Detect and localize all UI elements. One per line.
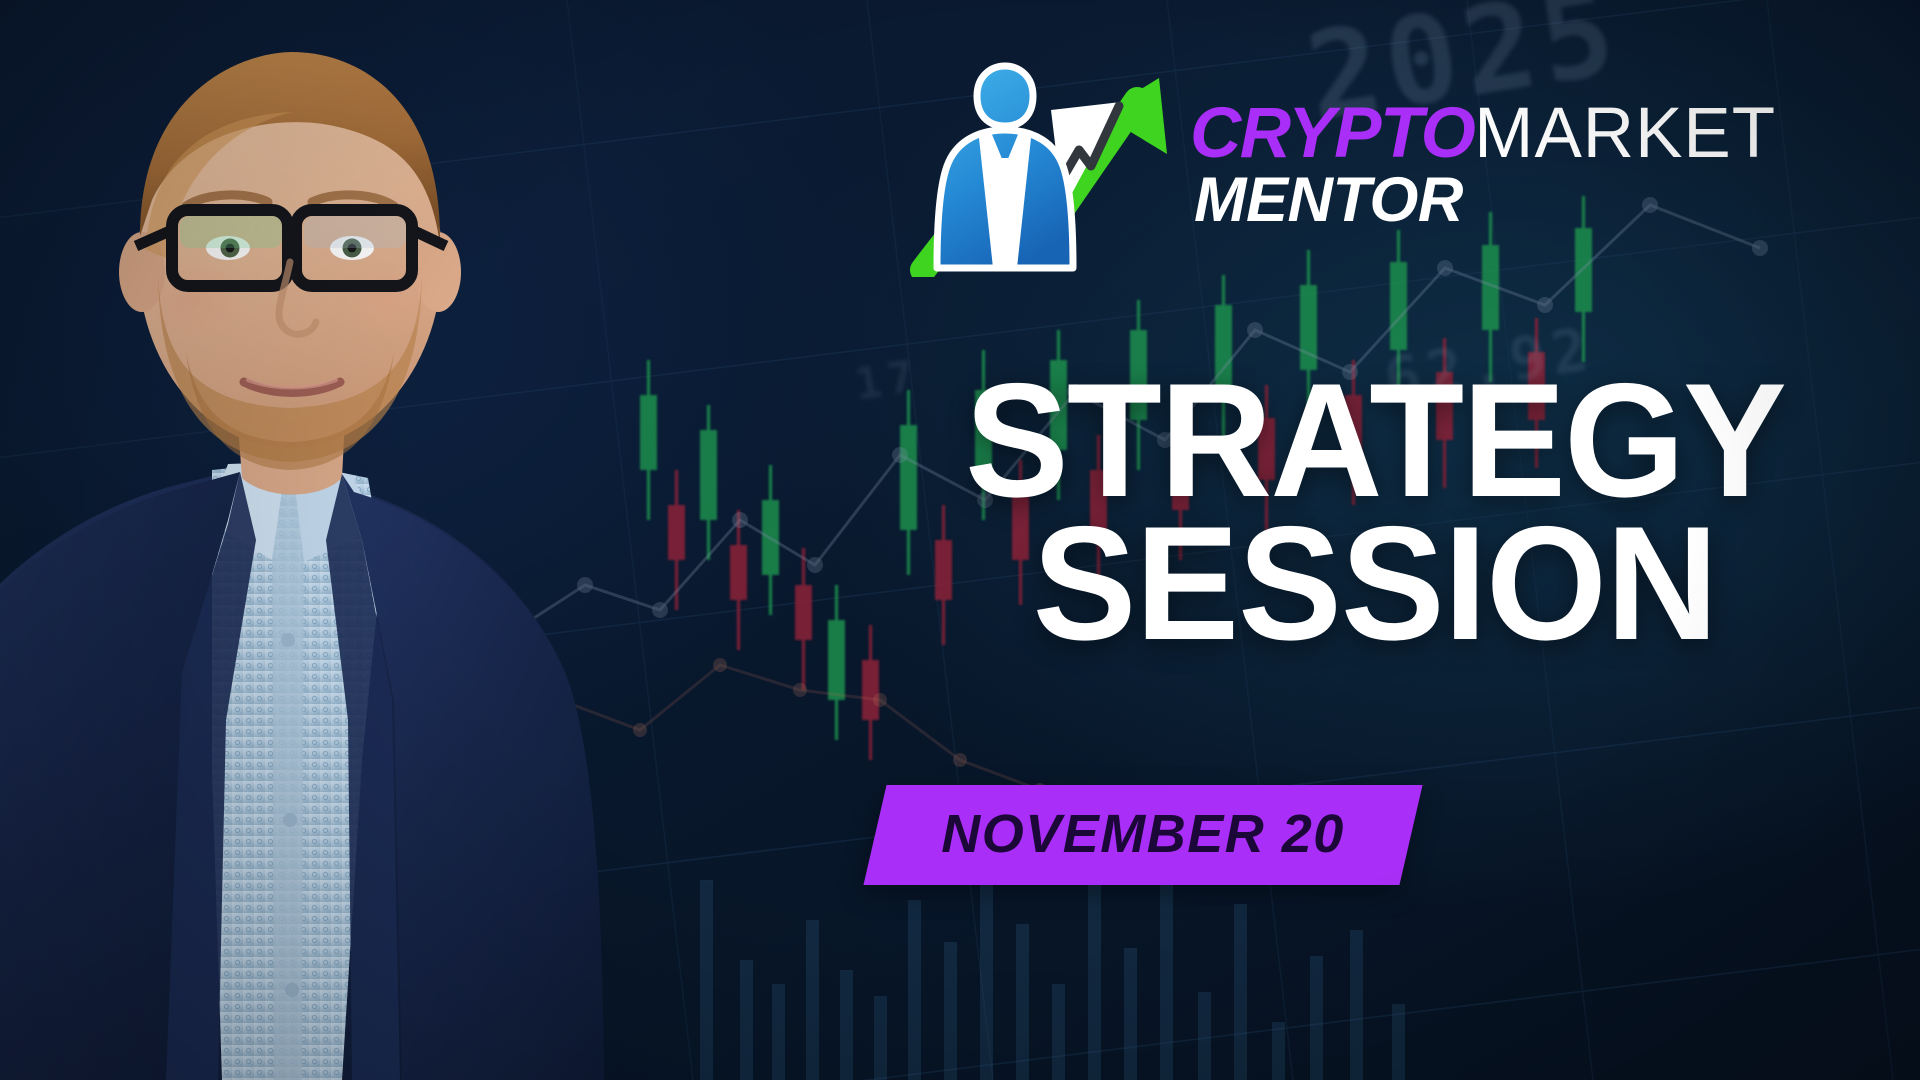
right-lapel <box>342 474 604 1080</box>
eyeglasses <box>136 210 446 286</box>
logo-market-text: MARKET <box>1474 94 1776 173</box>
page-title: STRATEGY SESSION <box>870 370 1880 655</box>
neck <box>236 400 346 495</box>
logo-wordmark: CRYPTOMARKET MENTOR <box>1190 100 1776 232</box>
date-badge: NOVEMBER 20 <box>863 785 1422 885</box>
left-lapel <box>0 472 240 1080</box>
headline-line-1: STRATEGY <box>890 370 1860 513</box>
suit-jacket <box>0 470 604 1080</box>
logo-mentor-text: MENTOR <box>1194 169 1776 232</box>
promo-banner: 2025 62.92 17 <box>0 0 1920 1080</box>
logo-crypto-text: CRYPTO <box>1190 94 1474 173</box>
businessman-silhouette-icon <box>937 66 1073 268</box>
date-label: NOVEMBER 20 <box>941 803 1345 865</box>
hair <box>140 52 440 244</box>
brand-logo: CRYPTOMARKET MENTOR <box>905 62 1835 277</box>
logo-mark <box>905 62 1235 277</box>
dress-shirt <box>212 462 382 1080</box>
presenter-portrait <box>0 0 710 1080</box>
face <box>138 72 442 448</box>
headline-line-2: SESSION <box>890 513 1860 656</box>
